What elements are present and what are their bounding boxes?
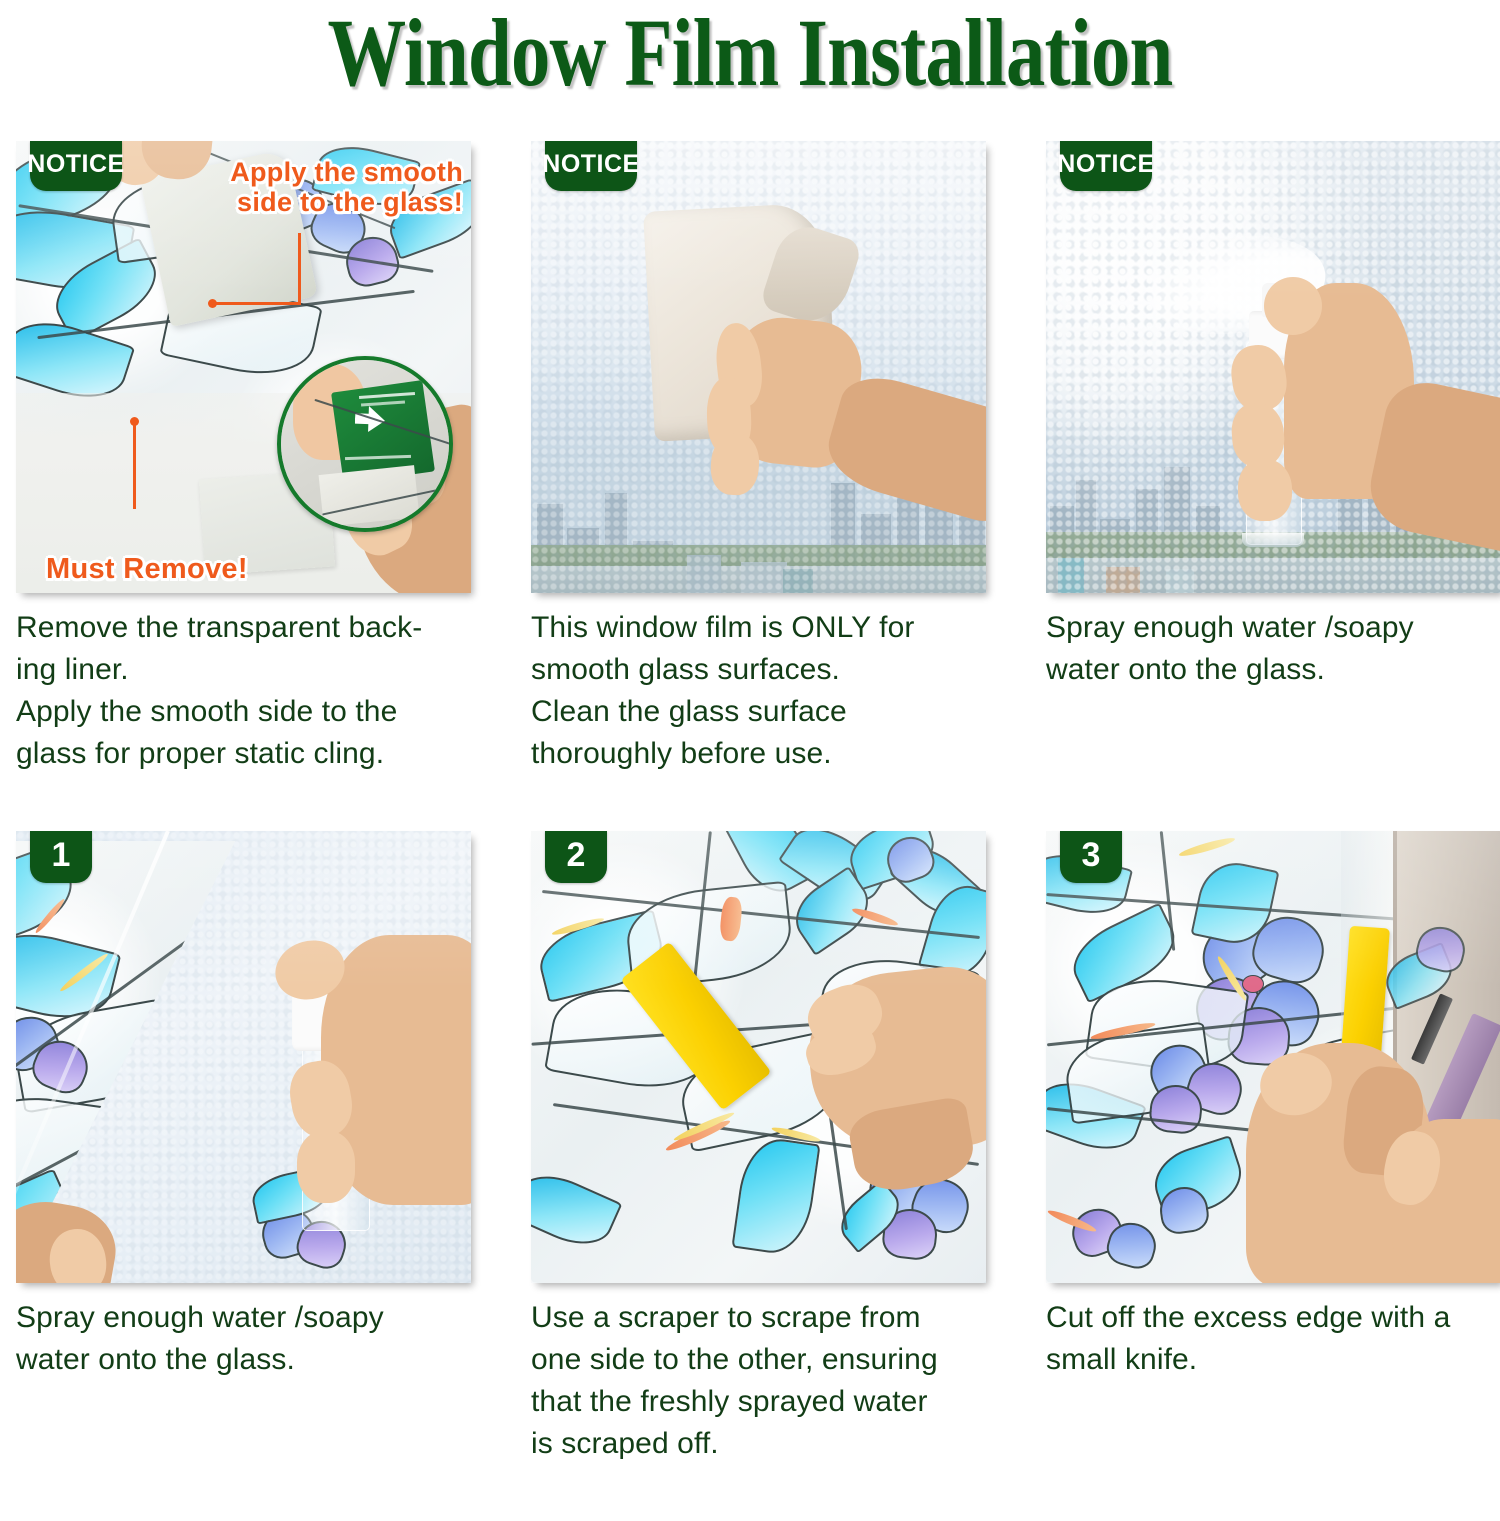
panel-grid: Apply the smooth side to the glass! Must… — [0, 141, 1500, 1521]
panel-6: 3 Cut off the excess edge with a small k… — [1046, 831, 1500, 1381]
page-title: Window Film Installation — [135, 0, 1365, 108]
panel-3-image: NOTICE — [1046, 141, 1500, 593]
panel-4-caption: Spray enough water /soapy water onto the… — [16, 1297, 471, 1381]
badge-step-2: 2 — [545, 831, 607, 883]
panel-1-image: Apply the smooth side to the glass! Must… — [16, 141, 471, 593]
panel-1-caption: Remove the transparent back- ing liner. … — [16, 607, 471, 775]
badge-step-1: 1 — [30, 831, 92, 883]
panel-2-caption: This window film is ONLY for smooth glas… — [531, 607, 986, 775]
annotation-must-remove: Must Remove! — [46, 553, 248, 585]
panel-1: Apply the smooth side to the glass! Must… — [16, 141, 471, 775]
panel-6-caption: Cut off the excess edge with a small kni… — [1046, 1297, 1500, 1381]
panel-2-image: NOTICE — [531, 141, 986, 593]
panel-5-image: 2 — [531, 831, 986, 1283]
panel-4-image: 1 — [16, 831, 471, 1283]
inset-closeup-circle — [277, 356, 453, 532]
panel-5: 2 Use a scraper to scrape from one side … — [531, 831, 986, 1465]
badge-notice: NOTICE — [545, 141, 637, 191]
leader-line-apply — [211, 233, 301, 305]
panel-6-image: 3 — [1046, 831, 1500, 1283]
badge-notice: NOTICE — [1060, 141, 1152, 191]
infographic-page: Window Film Installation — [0, 0, 1500, 1464]
panel-row-bottom: 1 Spray enough water /soapy water onto t… — [0, 831, 1500, 1521]
panel-3-caption: Spray enough water /soapy water onto the… — [1046, 607, 1500, 691]
leader-line-must-remove — [130, 421, 139, 509]
badge-notice: NOTICE — [30, 141, 122, 191]
panel-row-top: Apply the smooth side to the glass! Must… — [0, 141, 1500, 831]
panel-5-caption: Use a scraper to scrape from one side to… — [531, 1297, 986, 1465]
annotation-apply-smooth-side: Apply the smooth side to the glass! — [230, 157, 463, 217]
panel-3: NOTICE Spray enough water /soapy water o… — [1046, 141, 1500, 691]
badge-step-3: 3 — [1060, 831, 1122, 883]
panel-4: 1 Spray enough water /soapy water onto t… — [16, 831, 471, 1381]
panel-2: NOTICE This window film is ONLY for smoo… — [531, 141, 986, 775]
